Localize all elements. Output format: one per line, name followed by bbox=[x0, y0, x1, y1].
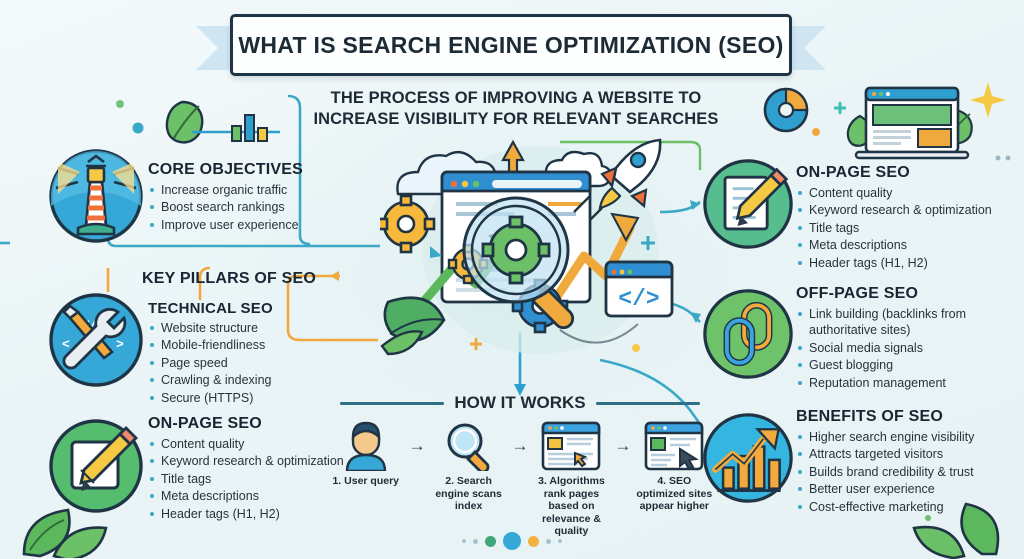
growth-chart-icon bbox=[702, 412, 794, 504]
flow-arrow-icon: → bbox=[509, 420, 530, 472]
plus-decor bbox=[470, 338, 482, 350]
step-4: 4. SEO optimized sites appear higher bbox=[634, 420, 716, 513]
list-item: Meta descriptions bbox=[148, 488, 348, 504]
list-item: Boost search rankings bbox=[148, 199, 358, 215]
bottom-right-leaves bbox=[900, 484, 1024, 559]
divider-right bbox=[596, 402, 700, 405]
off-page-seo-title: OFF-PAGE SEO bbox=[796, 285, 1011, 303]
how-it-works-header: HOW IT WORKS bbox=[340, 393, 700, 413]
on-page-seo-title: ON-PAGE SEO bbox=[148, 415, 348, 433]
list-item: Increase organic traffic bbox=[148, 182, 358, 198]
title-ribbon: WHAT IS SEARCH ENGINE OPTIMIZATION (SEO) bbox=[196, 14, 826, 76]
core-objectives-title: CORE OBJECTIVES bbox=[148, 161, 358, 179]
how-it-works-steps: 1. User query → 2. Search engine scans i… bbox=[325, 420, 715, 538]
footer-dot-indicator bbox=[452, 532, 572, 550]
benefits-title: BENEFITS OF SEO bbox=[796, 408, 1011, 426]
chain-link-icon bbox=[702, 288, 794, 380]
leaf-icon bbox=[382, 298, 444, 354]
lighthouse-icon bbox=[48, 148, 144, 244]
list-item: Header tags (H1, H2) bbox=[148, 506, 348, 522]
step-caption: 4. SEO optimized sites appear higher bbox=[634, 475, 716, 513]
list-item: Meta descriptions bbox=[796, 237, 1011, 253]
magnifier-icon bbox=[428, 420, 510, 472]
dot-small bbox=[546, 539, 551, 544]
document-pencil-icon bbox=[702, 158, 794, 250]
list-item: Crawling & indexing bbox=[148, 372, 353, 388]
off-page-seo-block: OFF-PAGE SEO Link building (backlinks fr… bbox=[796, 285, 1011, 392]
title-plate: WHAT IS SEARCH ENGINE OPTIMIZATION (SEO) bbox=[230, 14, 792, 76]
list-item: Social media signals bbox=[796, 340, 1011, 356]
technical-seo-block: TECHNICAL SEO Website structure Mobile-f… bbox=[148, 300, 353, 407]
dot-small bbox=[558, 539, 562, 543]
page-title: WHAT IS SEARCH ENGINE OPTIMIZATION (SEO) bbox=[238, 32, 783, 59]
list-item: Keyword research & optimization bbox=[148, 453, 348, 469]
infographic-canvas: WHAT IS SEARCH ENGINE OPTIMIZATION (SEO)… bbox=[0, 0, 1024, 559]
list-item: Content quality bbox=[796, 185, 1011, 201]
dot bbox=[632, 344, 640, 352]
leaf-icon bbox=[962, 504, 998, 554]
dot-green bbox=[485, 536, 496, 547]
user-avatar-icon bbox=[325, 420, 407, 472]
step-caption: 1. User query bbox=[325, 475, 407, 488]
list-item: Builds brand credibility & trust bbox=[796, 464, 1011, 480]
svg-text:>: > bbox=[116, 337, 124, 352]
step-caption: 3. Algorithms rank pages based on releva… bbox=[531, 475, 613, 538]
core-objectives-block: CORE OBJECTIVES Increase organic traffic… bbox=[148, 161, 358, 234]
list-item: Website structure bbox=[148, 320, 353, 336]
list-item: Header tags (H1, H2) bbox=[796, 255, 1011, 271]
svg-text:</>: </> bbox=[618, 286, 659, 312]
subtitle-line-2: INCREASE VISIBILITY FOR RELEVANT SEARCHE… bbox=[306, 109, 726, 130]
step-3: 3. Algorithms rank pages based on releva… bbox=[531, 420, 613, 538]
how-it-works-title: HOW IT WORKS bbox=[454, 393, 585, 413]
leaf-icon bbox=[914, 527, 964, 558]
svg-text:<: < bbox=[62, 337, 70, 352]
on-page-seo-list: Content quality Keyword research & optim… bbox=[148, 436, 348, 522]
dot-small bbox=[462, 539, 466, 543]
optimized-page-cursor-icon bbox=[634, 420, 716, 472]
off-page-seo-list: Link building (backlinks from authoritat… bbox=[796, 306, 1011, 391]
list-item: Mobile-friendliness bbox=[148, 337, 353, 353]
on-page-seo-title: ON-PAGE SEO bbox=[796, 164, 1011, 182]
subtitle: THE PROCESS OF IMPROVING A WEBSITE TO IN… bbox=[306, 88, 726, 130]
technical-seo-list: Website structure Mobile-friendliness Pa… bbox=[148, 320, 353, 406]
dot-blue-large bbox=[503, 532, 521, 550]
divider-left bbox=[340, 402, 444, 405]
key-pillars-title-block: KEY PILLARS OF SEO bbox=[142, 270, 352, 291]
code-window-icon: </> bbox=[606, 262, 672, 316]
flow-arrow-icon: → bbox=[612, 420, 633, 472]
bottom-left-leaves bbox=[10, 488, 140, 558]
on-page-seo-right-block: ON-PAGE SEO Content quality Keyword rese… bbox=[796, 164, 1011, 272]
seo-hero-illustration: </> bbox=[380, 132, 680, 382]
technical-seo-title: TECHNICAL SEO bbox=[148, 300, 353, 317]
list-item: Content quality bbox=[148, 436, 348, 452]
step-1: 1. User query bbox=[325, 420, 407, 488]
ranked-pages-icon bbox=[531, 420, 613, 472]
dot-orange bbox=[528, 536, 539, 547]
list-item-line-1: Link building (backlinks from bbox=[809, 307, 966, 321]
list-item: Title tags bbox=[148, 471, 348, 487]
list-item: Reputation management bbox=[796, 375, 1011, 391]
dot-small bbox=[473, 539, 478, 544]
list-item: Link building (backlinks from authoritat… bbox=[796, 306, 1011, 339]
subtitle-line-1: THE PROCESS OF IMPROVING A WEBSITE TO bbox=[306, 88, 726, 109]
step-caption: 2. Search engine scans index bbox=[428, 475, 510, 513]
dot bbox=[925, 515, 931, 521]
list-item: Page speed bbox=[148, 355, 353, 371]
wrench-screwdriver-icon: </> < > bbox=[48, 292, 144, 388]
list-item: Keyword research & optimization bbox=[796, 202, 1011, 218]
list-item: Attracts targeted visitors bbox=[796, 446, 1011, 462]
flow-arrow-icon: → bbox=[407, 420, 428, 472]
step-2: 2. Search engine scans index bbox=[428, 420, 510, 513]
list-item: Improve user experience bbox=[148, 217, 358, 233]
list-item-line-2: authoritative sites) bbox=[809, 322, 1011, 338]
on-page-seo-list: Content quality Keyword research & optim… bbox=[796, 185, 1011, 271]
list-item: Title tags bbox=[796, 220, 1011, 236]
list-item: Secure (HTTPS) bbox=[148, 390, 353, 406]
core-objectives-list: Increase organic traffic Boost search ra… bbox=[148, 182, 358, 233]
key-pillars-title: KEY PILLARS OF SEO bbox=[142, 270, 352, 288]
list-item: Higher search engine visibility bbox=[796, 429, 1011, 445]
on-page-seo-left-block: ON-PAGE SEO Content quality Keyword rese… bbox=[148, 415, 348, 523]
list-item: Guest blogging bbox=[796, 357, 1011, 373]
